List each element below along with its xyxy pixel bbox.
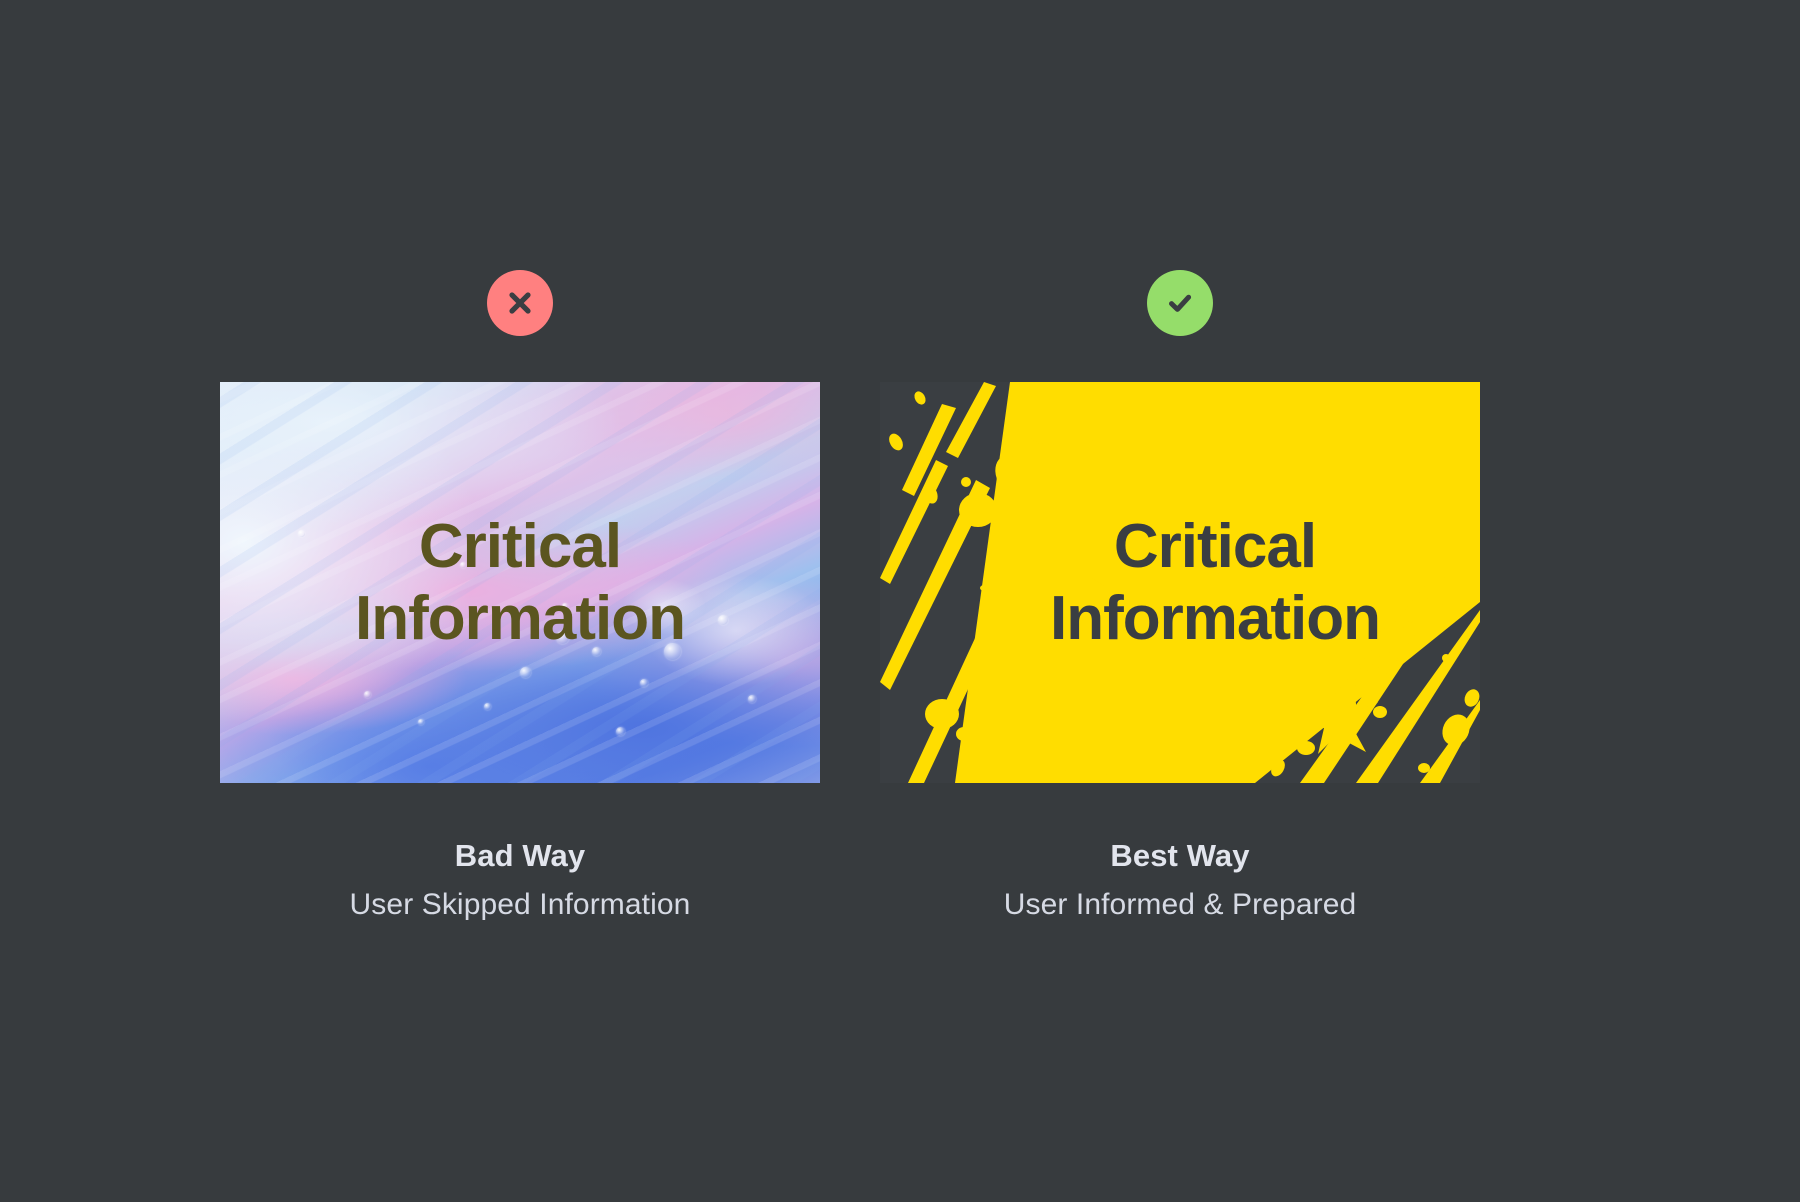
comparison-panel-good: Critical Information Best Way User Infor… — [830, 0, 1530, 1202]
caption-good: Best Way User Informed & Prepared — [830, 838, 1530, 922]
caption-title-good: Best Way — [830, 838, 1530, 874]
card-preview-good[interactable]: Critical Information — [880, 382, 1480, 783]
yellow-splatter-background — [880, 382, 1480, 783]
caption-subtitle-bad: User Skipped Information — [170, 888, 870, 922]
caption-subtitle-good: User Informed & Prepared — [830, 888, 1530, 922]
caption-bad: Bad Way User Skipped Information — [170, 838, 870, 922]
cross-icon — [487, 270, 553, 336]
caption-title-bad: Bad Way — [170, 838, 870, 874]
bubble-highlights — [220, 382, 820, 783]
check-icon — [1147, 270, 1213, 336]
card-preview-bad[interactable]: Critical Information — [220, 382, 820, 783]
contrast-comparison-board: Critical Information Bad Way User Skippe… — [0, 0, 1800, 1202]
comparison-panel-bad: Critical Information Bad Way User Skippe… — [170, 0, 870, 1202]
